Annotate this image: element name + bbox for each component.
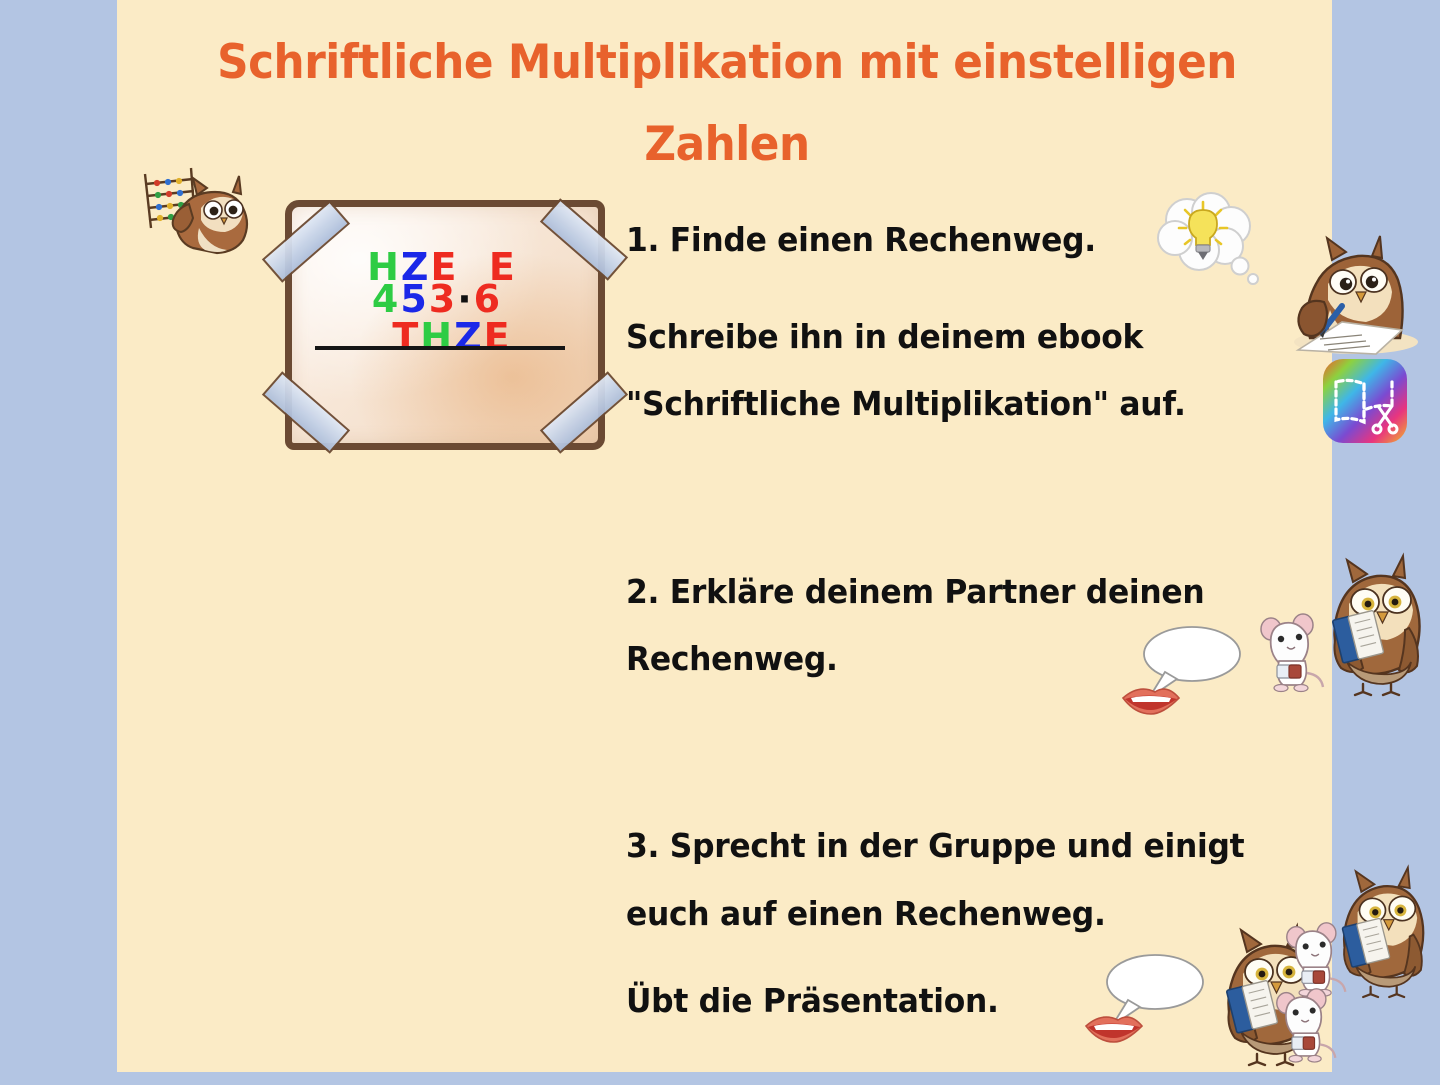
- instruction-2-line-2: Rechenweg.: [626, 627, 838, 691]
- slide-canvas: Schriftliche Multiplikation mit einstell…: [117, 0, 1332, 1072]
- page-title: Schriftliche Multiplikation mit einstell…: [216, 22, 1239, 186]
- math-illustration: HZE E 453·6 THZE: [285, 200, 605, 450]
- slide-root: Schriftliche Multiplikation mit einstell…: [0, 0, 1440, 1085]
- group-mouse-lower-icon: [1273, 978, 1341, 1062]
- instruction-3-line-3: Übt die Präsentation.: [626, 969, 999, 1033]
- instruction-1-line-1: 1. Finde einen Rechenweg.: [626, 208, 1096, 272]
- instruction-3-line-2: euch auf einen Rechenweg.: [626, 882, 1106, 946]
- book-creator-app-icon[interactable]: [1322, 358, 1408, 444]
- owl-with-book-icon: [1313, 550, 1431, 695]
- instruction-3-line-1: 3. Sprecht in der Gruppe und einigt: [626, 814, 1244, 878]
- math-expression: HZE E 453·6 THZE: [285, 248, 605, 362]
- instruction-1-line-2: Schreibe ihn in deinem ebook: [626, 305, 1143, 369]
- result-place-value-row: THZE: [299, 318, 605, 362]
- thought-bubble-lightbulb-icon: [1145, 188, 1270, 296]
- group-speech-bubble-lips-icon: [1080, 950, 1210, 1045]
- instruction-1-line-3: "Schriftliche Multiplikation" auf.: [626, 372, 1186, 436]
- owl-writing-icon: [1280, 198, 1422, 358]
- owl-with-abacus-icon: [137, 152, 262, 272]
- instruction-2-line-1: 2. Erkläre deinem Partner deinen: [626, 560, 1204, 624]
- speech-bubble-lips-icon: [1117, 622, 1247, 717]
- math-horizontal-rule: [315, 346, 565, 350]
